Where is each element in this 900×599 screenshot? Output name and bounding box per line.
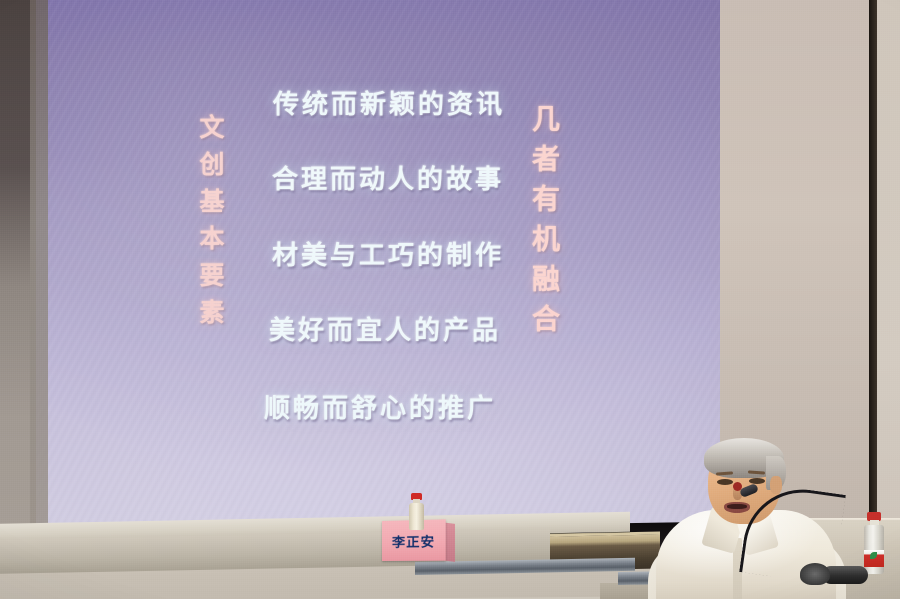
slide-bullet-line-3: 材美与工巧的制作 — [272, 235, 504, 272]
slide-bullet-line-1: 传统而新颖的资讯 — [273, 84, 505, 121]
lecture-hall-photo: 文创基本要素 传统而新颖的资讯 合理而动人的故事 材美与工巧的制作 美好而宜人的… — [0, 0, 900, 599]
projection-screen: 文创基本要素 传统而新颖的资讯 合理而动人的故事 材美与工巧的制作 美好而宜人的… — [36, 0, 720, 543]
slide-bullet-line-2: 合理而动人的故事 — [272, 159, 504, 196]
wall-corner-seam — [869, 0, 877, 560]
speaker-eye-right — [749, 478, 765, 484]
speaker-eye-left — [717, 479, 733, 485]
slide-content: 文创基本要素 传统而新颖的资讯 合理而动人的故事 材美与工巧的制作 美好而宜人的… — [36, 0, 720, 543]
water-bottle-right-icon — [862, 512, 885, 574]
far-right-wall — [876, 0, 900, 599]
water-bottle-center-icon — [408, 493, 424, 529]
slide-right-vertical-heading: 几者有机融合 — [530, 104, 558, 344]
nameplate-label: 李正安 — [392, 530, 435, 550]
bottle-body — [409, 503, 424, 530]
slide-bullet-line-5: 顺畅而舒心的推广 — [264, 388, 496, 425]
speaker-ear — [770, 476, 782, 494]
microphone-windscreen-tip — [733, 482, 742, 491]
slide-bullet-line-4: 美好而宜人的产品 — [269, 310, 501, 347]
slide-left-vertical-heading: 文创基本要素 — [198, 114, 223, 336]
left-wall-strip-inner — [30, 0, 48, 545]
speaker-mouth-opening — [727, 504, 747, 509]
